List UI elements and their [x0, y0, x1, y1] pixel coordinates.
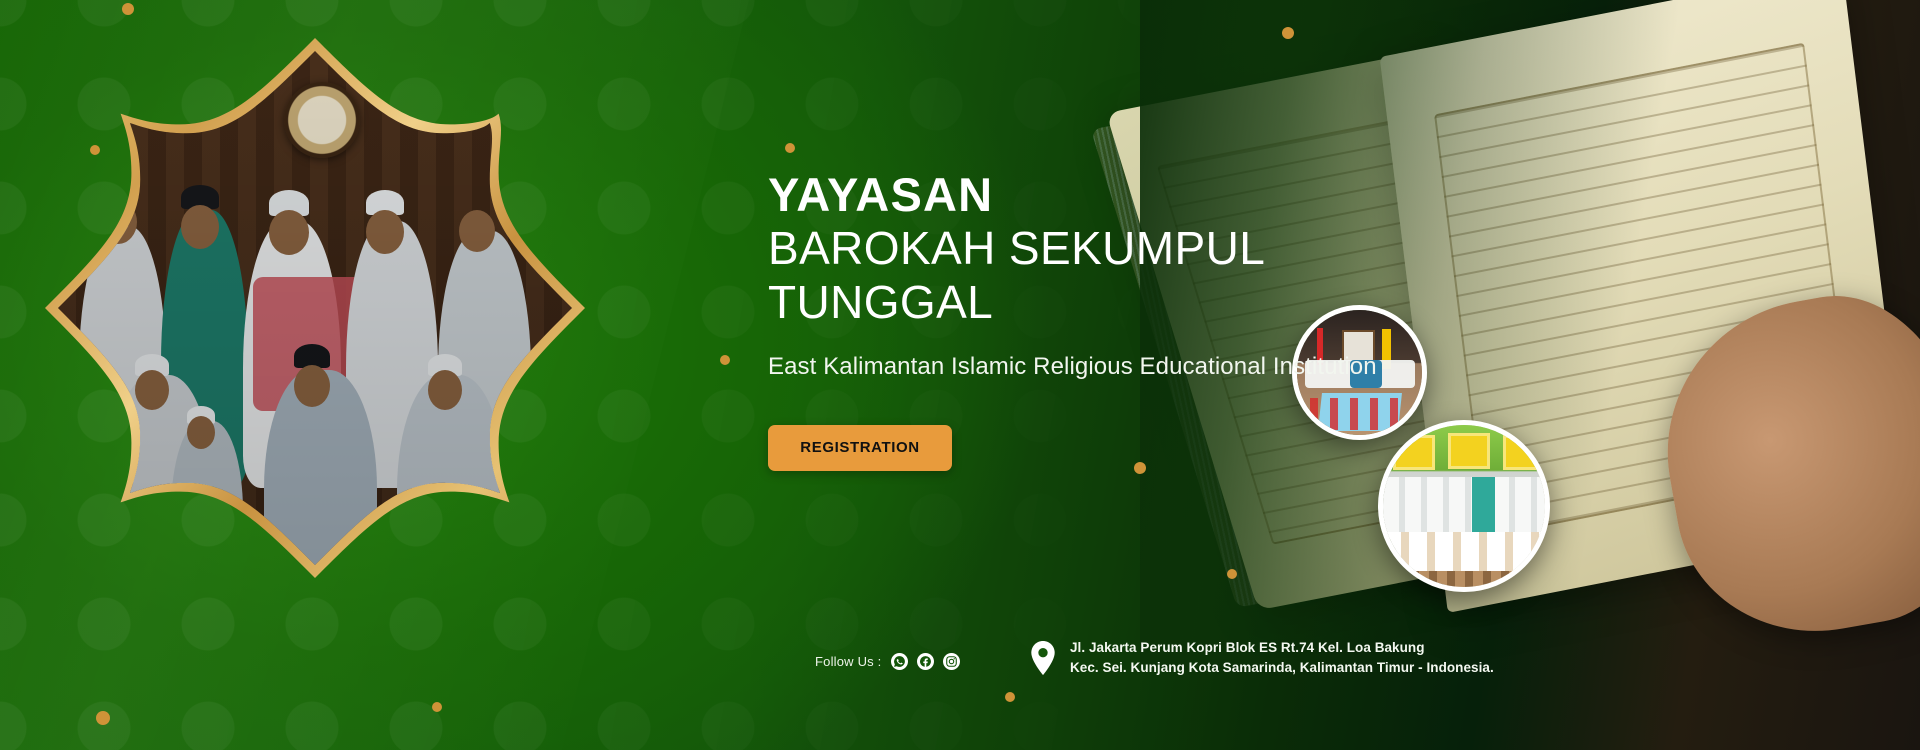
building-window — [1393, 435, 1435, 471]
building-window — [1503, 435, 1539, 471]
building-window — [1448, 433, 1490, 469]
address-text: Jl. Jakarta Perum Kopri Blok ES Rt.74 Ke… — [1070, 638, 1494, 677]
page-title-line2: BAROKAH SEKUMPUL — [768, 221, 1388, 275]
facebook-icon[interactable] — [917, 653, 934, 670]
ornate-photo-frame — [45, 38, 585, 578]
decor-dot — [1282, 27, 1294, 39]
follow-us-label: Follow Us : — [815, 654, 882, 669]
decor-dot — [122, 3, 134, 15]
page-title-line3: TUNGGAL — [768, 275, 1388, 329]
map-pin-icon — [1030, 641, 1056, 675]
hand-holding-quran — [1644, 276, 1920, 653]
prayer-mat — [1383, 571, 1545, 587]
inset-photo-congregation — [1378, 420, 1550, 592]
decor-dot — [785, 143, 795, 153]
decor-dot — [96, 711, 110, 725]
registration-button[interactable]: REGISTRATION — [768, 425, 952, 471]
whatsapp-icon[interactable] — [891, 653, 908, 670]
page-title-line1: YAYASAN — [768, 170, 1388, 221]
decor-dot — [432, 702, 442, 712]
follow-us-group: Follow Us : — [815, 653, 960, 670]
inset-photo-congregation-content — [1383, 425, 1545, 587]
hero-banner: YAYASAN BAROKAH SEKUMPUL TUNGGAL East Ka… — [0, 0, 1920, 750]
decor-dot — [1227, 569, 1237, 579]
instagram-icon[interactable] — [943, 653, 960, 670]
person-green-robe — [1472, 477, 1495, 532]
hero-subtitle: East Kalimantan Islamic Religious Educat… — [768, 351, 1388, 383]
decor-dot — [1005, 692, 1015, 702]
decor-dot — [720, 355, 730, 365]
hero-content: YAYASAN BAROKAH SEKUMPUL TUNGGAL East Ka… — [768, 170, 1388, 471]
congregation-standing-row — [1383, 477, 1545, 539]
address-group: Jl. Jakarta Perum Kopri Blok ES Rt.74 Ke… — [1030, 638, 1494, 677]
